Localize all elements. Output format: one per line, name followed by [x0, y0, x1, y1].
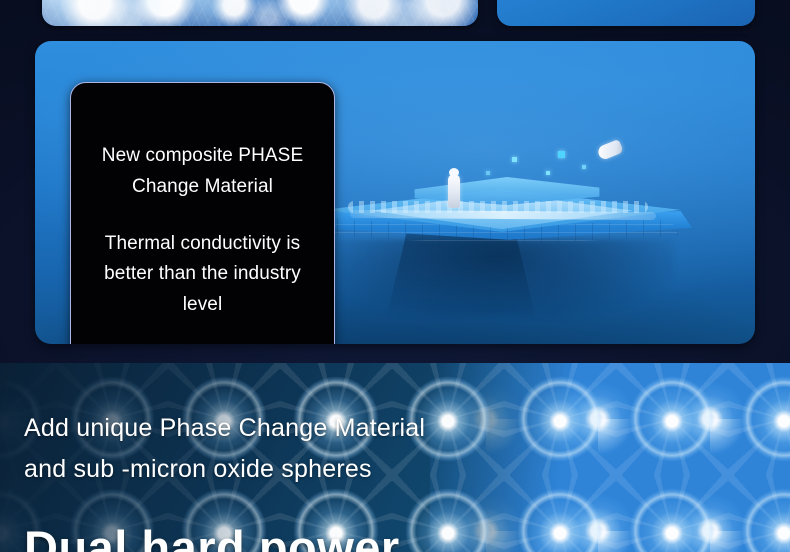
top-card-row [0, 0, 790, 26]
spec-line-3: Thermal conductivity is [105, 229, 301, 260]
tagline-line-2: and sub -micron oxide spheres [24, 449, 494, 490]
sphere-cluster-texture-icon [42, 0, 478, 26]
sphere-texture-fill [42, 0, 478, 26]
hero-panel: New composite PHASE Change Material Ther… [35, 41, 755, 344]
hologram-pixel [582, 165, 586, 169]
bottom-banner: Add unique Phase Change Material and sub… [0, 363, 790, 552]
hologram-pixel [558, 151, 565, 158]
tagline-line-1: Add unique Phase Change Material [24, 408, 494, 449]
product-page: New composite PHASE Change Material Ther… [0, 0, 790, 552]
bottom-headline: Dual hard power [24, 520, 400, 552]
spec-line-5: level [183, 290, 223, 321]
spec-line-4: better than the industry [104, 259, 301, 290]
hologram-pixel [546, 171, 550, 175]
spec-line-1: New composite PHASE [102, 141, 303, 172]
hologram-pixel [512, 157, 517, 162]
hologram-pixel [486, 171, 490, 175]
spec-text-card: New composite PHASE Change Material Ther… [70, 82, 335, 344]
blank-blue-card [497, 0, 755, 26]
astronaut-standing-icon [448, 174, 460, 208]
3d-platform-illustration-icon [290, 119, 720, 319]
spec-line-2: Change Material [132, 172, 273, 203]
astronaut-floating-icon [596, 139, 623, 161]
bottom-tagline: Add unique Phase Change Material and sub… [24, 408, 494, 489]
